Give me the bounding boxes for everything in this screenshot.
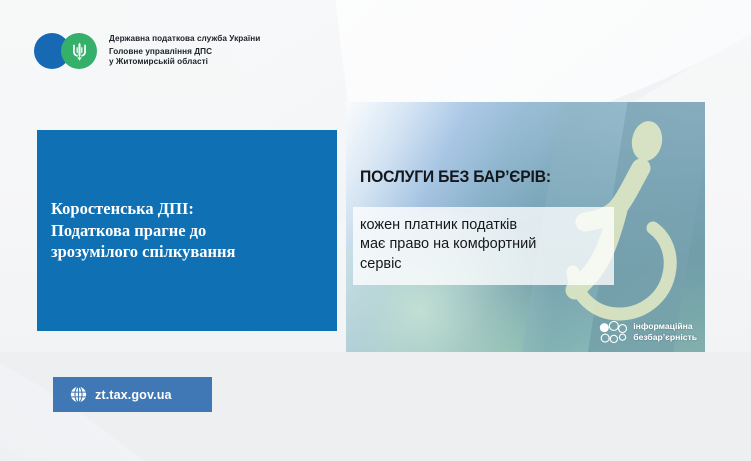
globe-icon — [70, 386, 87, 403]
headline-panel: Коростенська ДПІ: Податкова прагне до зр… — [37, 130, 337, 331]
org-line-3: у Житомирській області — [109, 57, 260, 68]
org-name-block: Державна податкова служба України Головн… — [109, 34, 260, 68]
bezbarjernist-circles-icon — [598, 319, 628, 345]
poster-canvas: Державна податкова служба України Головн… — [0, 0, 751, 461]
trident-icon — [72, 42, 87, 61]
headline-text: Коростенська ДПІ: Податкова прагне до зр… — [37, 198, 235, 263]
org-logo — [34, 33, 97, 69]
org-line-2: Головне управління ДПС — [109, 47, 260, 58]
website-url-badge[interactable]: zt.tax.gov.ua — [53, 377, 212, 412]
photo-body-text: кожен платник податків має право на комф… — [353, 207, 614, 285]
photo-panel: ПОСЛУГИ БЕЗ БАР’ЄРІВ: кожен платник пода… — [346, 102, 705, 352]
org-header: Державна податкова служба України Головн… — [34, 33, 260, 69]
org-line-1: Державна податкова служба України — [109, 34, 260, 45]
bezbarjernist-label: інформаційна безбар’єрність — [633, 321, 697, 343]
website-url-text: zt.tax.gov.ua — [95, 388, 172, 402]
bezbarjernist-watermark: інформаційна безбар’єрність — [598, 319, 697, 345]
photo-title: ПОСЛУГИ БЕЗ БАР’ЄРІВ: — [360, 168, 551, 187]
trident-emblem-icon — [61, 33, 97, 69]
